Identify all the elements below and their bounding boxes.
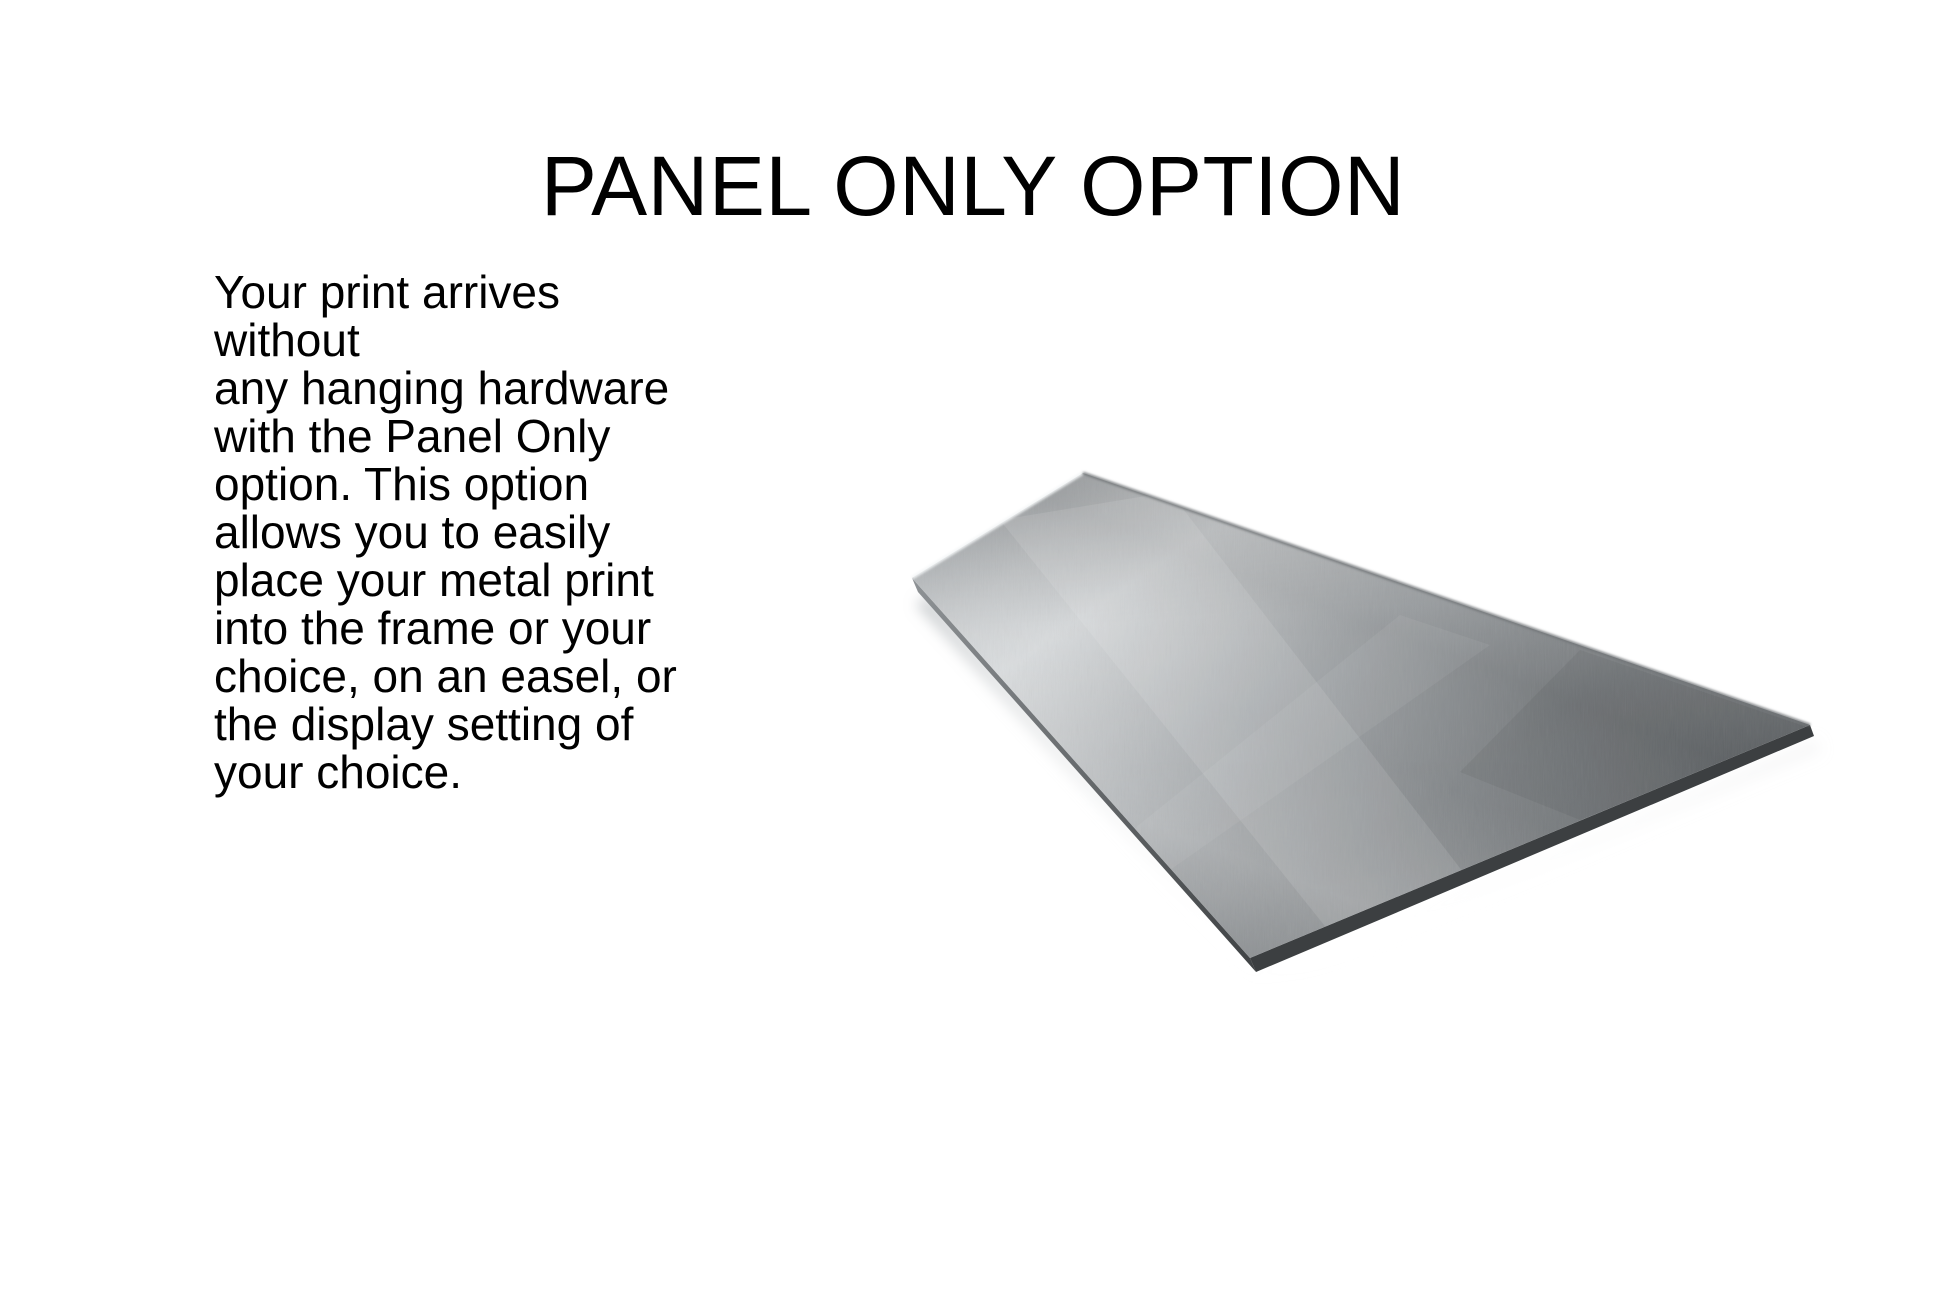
body-line: any hanging hardware: [214, 364, 684, 412]
body-text-block: Your print arrives without any hanging h…: [214, 268, 684, 796]
body-line: choice, on an easel, or: [214, 652, 684, 700]
body-line: Your print arrives without: [214, 268, 684, 364]
body-line: with the Panel Only: [214, 412, 684, 460]
body-line: the display setting of: [214, 700, 684, 748]
body-line: into the frame or your: [214, 604, 684, 652]
body-line: allows you to easily: [214, 508, 684, 556]
body-line: place your metal print: [214, 556, 684, 604]
body-line: your choice.: [214, 748, 684, 796]
metal-panel-illustration: [700, 400, 1880, 1020]
metal-panel-photo: [700, 400, 1880, 1020]
body-line: option. This option: [214, 460, 684, 508]
slide-canvas: PANEL ONLY OPTION Your print arrives wit…: [0, 0, 1946, 1297]
page-title: PANEL ONLY OPTION: [0, 138, 1946, 234]
